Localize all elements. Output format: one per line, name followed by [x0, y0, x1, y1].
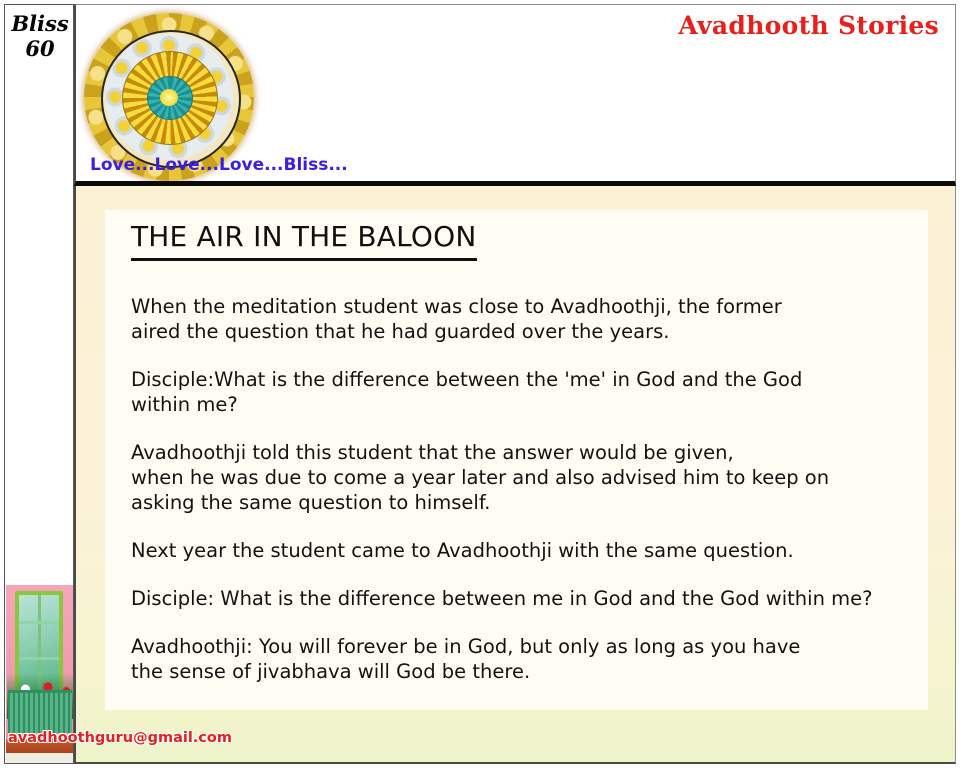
slide-canvas: Avadhooth Stories Love...Love...Love...B… — [0, 0, 960, 768]
content-card: THE AIR IN THE BALOON When the meditatio… — [105, 210, 928, 710]
bliss-number: 60 — [5, 36, 74, 61]
bliss-word: Bliss — [11, 11, 68, 36]
content-paragraphs: When the meditation student was close to… — [131, 294, 921, 684]
page-title: Avadhooth Stories — [678, 11, 939, 41]
content-heading: THE AIR IN THE BALOON — [131, 220, 477, 261]
content-paragraph: Disciple:What is the difference between … — [131, 367, 921, 417]
slide-body: THE AIR IN THE BALOON When the meditatio… — [74, 186, 956, 764]
slide-header: Avadhooth Stories Love...Love...Love...B… — [74, 4, 956, 186]
content-paragraph: When the meditation student was close to… — [131, 294, 921, 344]
bliss-label: Bliss 60 — [5, 11, 74, 61]
content-paragraph: Avadhoothji told this student that the a… — [131, 440, 921, 515]
contact-email[interactable]: avadhoothguru@gmail.com — [8, 730, 268, 746]
tagline: Love...Love...Love...Bliss... — [90, 155, 348, 175]
left-sidebar: Bliss 60 — [4, 4, 74, 764]
content-paragraph: Disciple: What is the difference between… — [131, 586, 921, 611]
content-paragraph: Next year the student came to Avadhoothj… — [131, 538, 921, 563]
content-paragraph: Avadhoothji: You will forever be in God,… — [131, 634, 921, 684]
